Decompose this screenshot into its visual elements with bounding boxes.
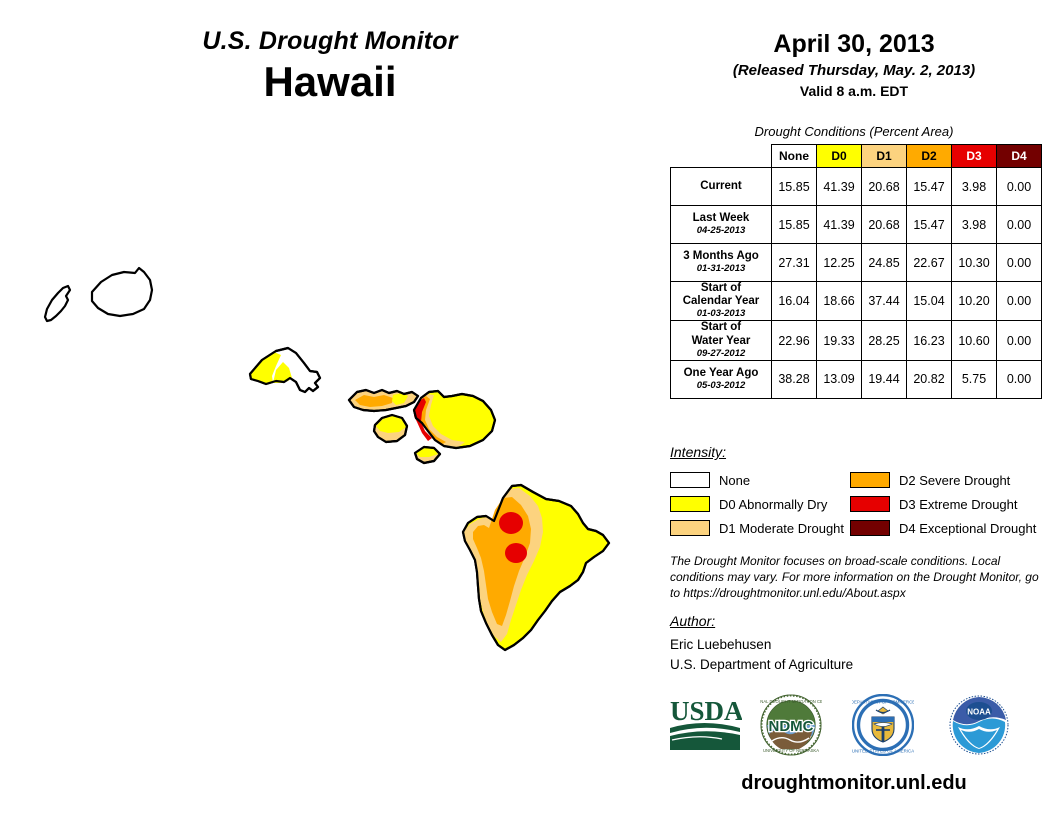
table-cell-d0: 41.39 xyxy=(817,168,862,206)
legend-swatch xyxy=(850,472,890,488)
author-heading: Author: xyxy=(670,613,715,629)
noaa-logo: NOAA xyxy=(948,694,1010,756)
table-cell-none: 27.31 xyxy=(772,244,817,282)
table-cell-d3: 5.75 xyxy=(952,360,997,398)
table-row: One Year Ago05-03-201238.2813.0919.4420.… xyxy=(671,360,1042,398)
legend-label: D1 Moderate Drought xyxy=(719,521,844,536)
table-header: NoneD0D1D2D3D4 xyxy=(671,145,1042,168)
title-block: U.S. Drought Monitor Hawaii xyxy=(0,28,660,105)
table-column-header-d2: D2 xyxy=(907,145,952,168)
table-row-date: 01-31-2013 xyxy=(671,264,771,275)
table-column-header-d4: D4 xyxy=(997,145,1042,168)
table-cell-d2: 15.47 xyxy=(907,206,952,244)
table-cell-d4: 0.00 xyxy=(997,360,1042,398)
table-row-date: 05-03-2012 xyxy=(671,381,771,392)
table-cell-d2: 16.23 xyxy=(907,321,952,360)
table-row: Start ofWater Year09-27-201222.9619.3328… xyxy=(671,321,1042,360)
svg-text:UNITED STATES OF AMERICA: UNITED STATES OF AMERICA xyxy=(852,749,914,754)
author-name: Eric Luebehusen xyxy=(670,635,853,655)
legend-item: D4 Exceptional Drought xyxy=(850,516,1042,540)
svg-text:DEPARTMENT OF COMMERCE: DEPARTMENT OF COMMERCE xyxy=(852,700,914,705)
legend-label: D4 Exceptional Drought xyxy=(899,521,1036,536)
svg-text:NOAA: NOAA xyxy=(967,708,991,717)
table-body: Current15.8541.3920.6815.473.980.00Last … xyxy=(671,168,1042,399)
table-cell-d0: 18.66 xyxy=(817,282,862,321)
ndmc-logo: NDMC NATIONAL DROUGHT MITIGATION CENTER … xyxy=(760,694,822,756)
table-row-label: One Year Ago05-03-2012 xyxy=(671,360,772,398)
hawaii-d3-zone-north xyxy=(499,512,523,534)
table-row-date: 04-25-2013 xyxy=(671,226,771,237)
table-cell-none: 38.28 xyxy=(772,360,817,398)
header-block: April 30, 2013 (Released Thursday, May. … xyxy=(668,30,1040,99)
svg-text:UNIVERSITY OF NEBRASKA: UNIVERSITY OF NEBRASKA xyxy=(763,748,819,753)
logo-row: USDA NDMC NATIONAL DROUGHT MITIGATION CE… xyxy=(666,694,1042,766)
legend-item: D3 Extreme Drought xyxy=(850,492,1042,516)
table-cell-d4: 0.00 xyxy=(997,206,1042,244)
author-block: Eric Luebehusen U.S. Department of Agric… xyxy=(670,635,853,674)
table-column-header-d0: D0 xyxy=(817,145,862,168)
table-row-label: Current xyxy=(671,168,772,206)
legend-item: D0 Abnormally Dry xyxy=(670,492,850,516)
legend-label: D2 Severe Drought xyxy=(899,473,1010,488)
release-date: (Released Thursday, May. 2, 2013) xyxy=(668,62,1040,79)
table-row: Last Week04-25-201315.8541.3920.6815.473… xyxy=(671,206,1042,244)
island-kauai xyxy=(92,268,152,316)
report-date: April 30, 2013 xyxy=(668,30,1040,59)
table-corner-cell xyxy=(671,145,772,168)
table-cell-none: 22.96 xyxy=(772,321,817,360)
site-url: droughtmonitor.unl.edu xyxy=(666,772,1042,795)
table-cell-d0: 13.09 xyxy=(817,360,862,398)
valid-time: Valid 8 a.m. EDT xyxy=(668,83,1040,99)
table-cell-d1: 19.44 xyxy=(862,360,907,398)
legend-swatch xyxy=(670,472,710,488)
table-cell-d4: 0.00 xyxy=(997,244,1042,282)
table-caption: Drought Conditions (Percent Area) xyxy=(668,124,1040,139)
doc-logo: DEPARTMENT OF COMMERCE UNITED STATES OF … xyxy=(852,694,914,756)
table-cell-d2: 15.47 xyxy=(907,168,952,206)
legend-label: D0 Abnormally Dry xyxy=(719,497,827,512)
table-cell-none: 16.04 xyxy=(772,282,817,321)
author-organization: U.S. Department of Agriculture xyxy=(670,655,853,675)
table-cell-d1: 24.85 xyxy=(862,244,907,282)
table-cell-d1: 37.44 xyxy=(862,282,907,321)
hawaii-drought-map xyxy=(0,120,660,720)
table-cell-d4: 0.00 xyxy=(997,282,1042,321)
region-title: Hawaii xyxy=(0,58,660,105)
table-cell-d4: 0.00 xyxy=(997,168,1042,206)
legend-swatch xyxy=(850,520,890,536)
drought-conditions-table: NoneD0D1D2D3D4 Current15.8541.3920.6815.… xyxy=(670,144,1042,399)
svg-text:NDMC: NDMC xyxy=(769,718,814,735)
legend-label: D3 Extreme Drought xyxy=(899,497,1018,512)
table-cell-d3: 10.20 xyxy=(952,282,997,321)
table-cell-d1: 20.68 xyxy=(862,168,907,206)
intensity-legend: NoneD2 Severe DroughtD0 Abnormally DryD3… xyxy=(670,468,1042,540)
table-cell-d1: 28.25 xyxy=(862,321,907,360)
legend-swatch xyxy=(670,496,710,512)
table-row-label: Last Week04-25-2013 xyxy=(671,206,772,244)
svg-text:NATIONAL DROUGHT MITIGATION CE: NATIONAL DROUGHT MITIGATION CENTER xyxy=(760,699,822,704)
table-cell-d3: 10.60 xyxy=(952,321,997,360)
table-cell-d2: 22.67 xyxy=(907,244,952,282)
table-header-row: NoneD0D1D2D3D4 xyxy=(671,145,1042,168)
intensity-heading: Intensity: xyxy=(670,444,726,460)
table-column-header-d1: D1 xyxy=(862,145,907,168)
table-row-date: 01-03-2013 xyxy=(671,309,771,320)
legend-label: None xyxy=(719,473,750,488)
table-row: Current15.8541.3920.6815.473.980.00 xyxy=(671,168,1042,206)
table-cell-d0: 19.33 xyxy=(817,321,862,360)
table-cell-d0: 12.25 xyxy=(817,244,862,282)
legend-swatch xyxy=(670,520,710,536)
table-column-header-d3: D3 xyxy=(952,145,997,168)
legend-swatch xyxy=(850,496,890,512)
disclaimer-text: The Drought Monitor focuses on broad-sca… xyxy=(670,554,1045,601)
table-cell-none: 15.85 xyxy=(772,206,817,244)
table-cell-d2: 15.04 xyxy=(907,282,952,321)
table-cell-d4: 0.00 xyxy=(997,321,1042,360)
island-niihau xyxy=(45,286,70,321)
svg-text:USDA: USDA xyxy=(670,696,742,726)
table-row-label: Start ofWater Year09-27-2012 xyxy=(671,321,772,360)
table-cell-d1: 20.68 xyxy=(862,206,907,244)
table-row-label: Start ofCalendar Year01-03-2013 xyxy=(671,282,772,321)
table-cell-d3: 10.30 xyxy=(952,244,997,282)
table-cell-d2: 20.82 xyxy=(907,360,952,398)
table-cell-d0: 41.39 xyxy=(817,206,862,244)
legend-item: D1 Moderate Drought xyxy=(670,516,850,540)
hawaii-d3-zone-south xyxy=(505,543,527,563)
legend-item: D2 Severe Drought xyxy=(850,468,1042,492)
table-cell-d3: 3.98 xyxy=(952,206,997,244)
table-row-date: 09-27-2012 xyxy=(671,349,771,360)
table-row-label: 3 Months Ago01-31-2013 xyxy=(671,244,772,282)
table-column-header-none: None xyxy=(772,145,817,168)
usda-logo: USDA xyxy=(668,694,742,754)
table-row: Start ofCalendar Year01-03-201316.0418.6… xyxy=(671,282,1042,321)
page-title: U.S. Drought Monitor xyxy=(0,28,660,56)
legend-item: None xyxy=(670,468,850,492)
table-row: 3 Months Ago01-31-201327.3112.2524.8522.… xyxy=(671,244,1042,282)
table-cell-none: 15.85 xyxy=(772,168,817,206)
table-cell-d3: 3.98 xyxy=(952,168,997,206)
